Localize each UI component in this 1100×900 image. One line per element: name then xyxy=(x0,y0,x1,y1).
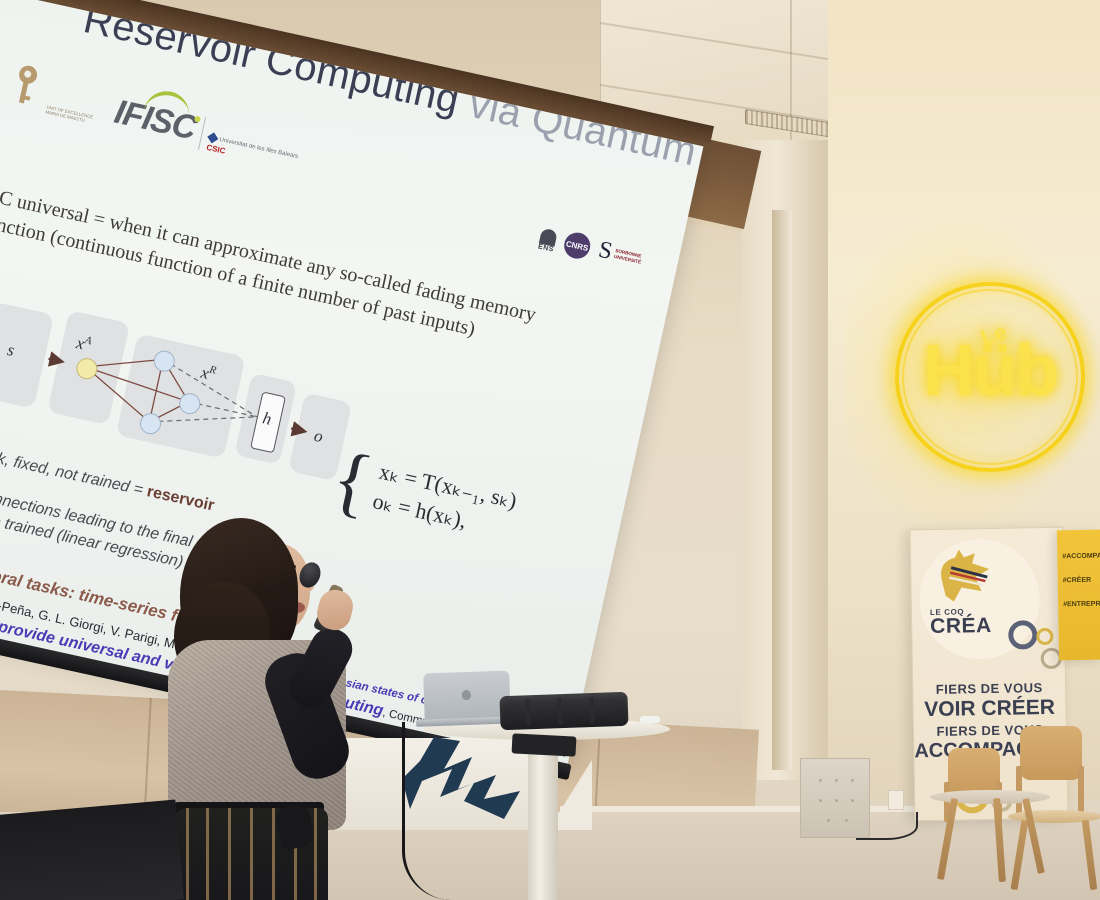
neon-sign-le-hub: Hüb Le xyxy=(895,282,1085,472)
wall-socket[interactable] xyxy=(888,790,904,810)
podium-mount-bracket xyxy=(512,733,577,756)
cable xyxy=(402,722,451,900)
uib-icon xyxy=(207,133,218,144)
cnrs-logo: CNRS xyxy=(562,230,593,261)
equation-lines: xₖ = T(xₖ₋₁, sₖ) oₖ = h(xₖ), xyxy=(370,457,520,546)
banner-line-1: FIERS DE VOUS xyxy=(913,680,1065,698)
coq-line-2: CRÉA xyxy=(930,616,992,637)
ifisc-dot-icon xyxy=(194,116,201,123)
ifisc-logo: IFISC Universitat de les Illes Balears C… xyxy=(111,93,303,172)
presentation-clicker[interactable] xyxy=(640,716,660,723)
ens-logo: ENS xyxy=(537,228,558,254)
ifisc-arc-icon xyxy=(143,90,191,117)
sorbonne-logo: S SORBONNEUNIVERSITÉ xyxy=(596,237,645,273)
ifisc-partners: Universitat de les Illes Balears CSIC xyxy=(206,133,299,171)
hashtag-line-2: #CRÉER xyxy=(1063,576,1098,586)
ifisc-wordmark: IFISC xyxy=(111,93,199,149)
laptop-bag xyxy=(499,692,628,730)
speaker xyxy=(150,510,390,900)
pillar-recess xyxy=(772,210,792,770)
excellence-caption: UNIT OF EXCELLENCE MARÍA DE MAEZTU xyxy=(45,105,100,126)
key-icon xyxy=(9,64,40,114)
slide-logos-right: ENS CNRS S SORBONNEUNIVERSITÉ xyxy=(537,224,644,273)
rooster-icon xyxy=(931,547,998,604)
sorbonne-s-icon: S xyxy=(596,237,615,266)
sorbonne-label: SORBONNEUNIVERSITÉ xyxy=(614,248,643,265)
side-table-top xyxy=(930,790,1050,804)
photo-scene: Reservoir Computing via Quantum states U… xyxy=(0,0,1100,900)
gear-icon xyxy=(1036,628,1053,645)
coq-wordmark: LE COQ CRÉA xyxy=(930,607,992,637)
banner-line-2: VOIR CRÉER xyxy=(913,696,1065,723)
podium-column xyxy=(528,736,558,900)
hashtag-line-1: #ACCOMPAGNER xyxy=(1062,552,1097,562)
banner-yellow-hashtags: #ACCOMPAGNER #CRÉER #ENTREPRENDRE xyxy=(1057,530,1100,661)
apple-logo-icon xyxy=(462,690,471,700)
gear-icon xyxy=(1008,620,1038,650)
power-cable xyxy=(856,812,918,840)
hashtag-line-3: #ENTREPRENDRE xyxy=(1063,600,1098,610)
foreground-dark-table xyxy=(0,799,184,900)
